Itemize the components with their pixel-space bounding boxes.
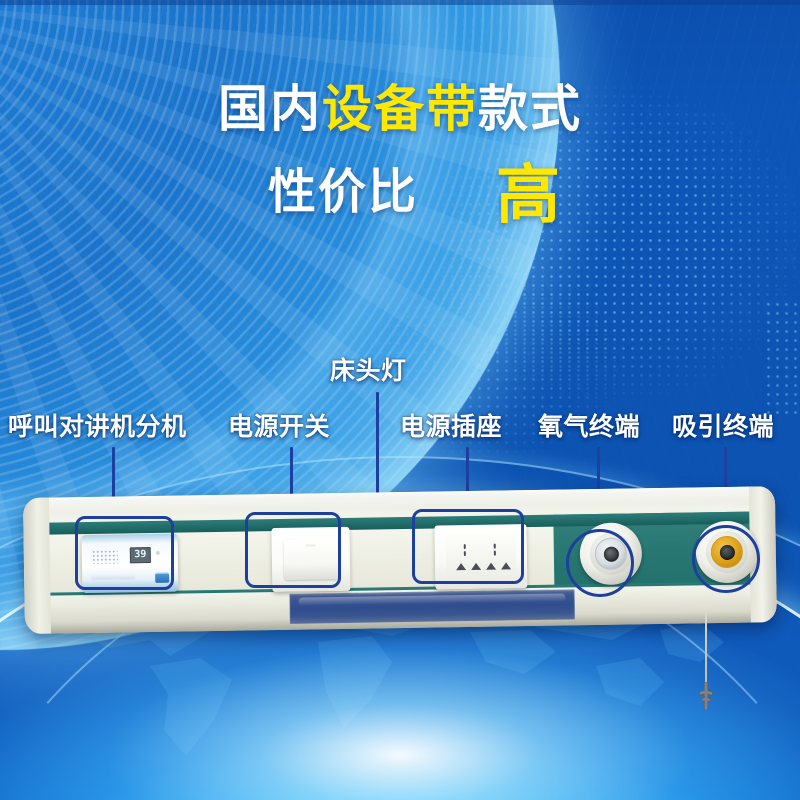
headline-line1-part2: 款式 (478, 80, 582, 138)
highlight-box-power-switch (245, 512, 341, 588)
headline-line2-part1: 性价比 (238, 168, 418, 216)
headline-line-1: 国内设备带款式 (0, 84, 800, 134)
panel-end-cap-left (23, 498, 51, 634)
callout-label-power-socket: 电源插座 (400, 414, 502, 439)
halftone-edge-dots (764, 300, 800, 420)
highlight-circle-suction-outlet (692, 525, 760, 593)
headline-block: 国内设备带款式 性价比高 (0, 84, 800, 224)
bedside-lamp-strip[interactable] (289, 589, 574, 623)
callout-label-intercom: 呼叫对讲机分机 (8, 414, 187, 439)
headline-line2-highlight: 高 (496, 164, 562, 228)
callout-label-suction-outlet: 吸引终端 (672, 414, 774, 439)
highlight-box-power-socket (412, 509, 524, 584)
highlight-box-intercom (75, 516, 174, 590)
top-edge-bar (0, 0, 800, 5)
hanging-tube (705, 612, 707, 690)
headline-line1-part1: 国内 (218, 80, 322, 138)
highlight-circle-oxygen-outlet (566, 529, 634, 597)
headline-line-2: 性价比高 (0, 160, 800, 224)
headline-line1-highlight: 设备带 (322, 80, 478, 138)
callout-label-power-switch: 电源开关 (228, 414, 330, 439)
promo-banner: 国内设备带款式 性价比高 呼叫对讲机分机 电源开关 床头灯 电源插座 氧气终端 … (0, 0, 800, 800)
hose-fitting-icon (694, 682, 718, 710)
callout-label-bedside-lamp: 床头灯 (330, 358, 407, 383)
callout-label-oxygen-outlet: 氧气终端 (538, 414, 640, 439)
